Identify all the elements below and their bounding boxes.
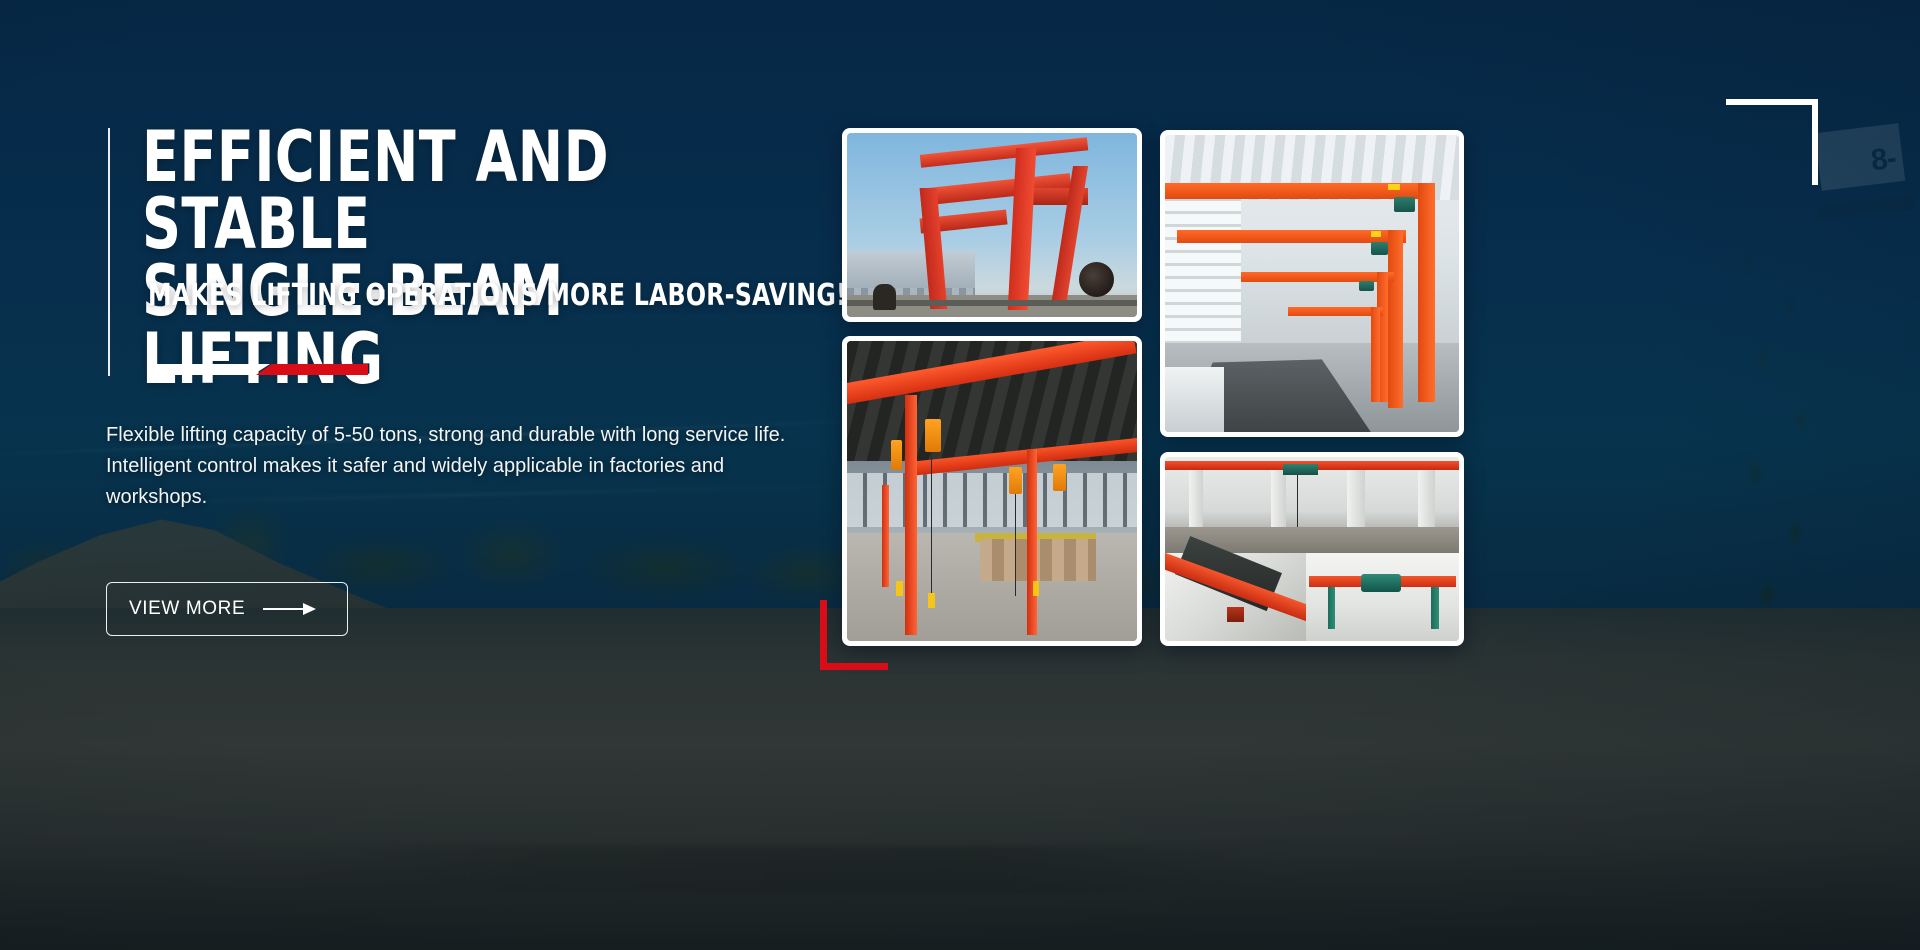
gallery-image-factory-gantry-row[interactable]	[1160, 130, 1464, 437]
hero-banner: 8- EFFICIENT AND STABLE SINGLE-BEAM LIFT…	[0, 0, 1920, 950]
corner-bracket-top-right-icon	[1726, 99, 1818, 185]
slash-divider	[148, 364, 368, 375]
product-image-gallery	[840, 100, 1480, 670]
divider-white-segment	[148, 364, 270, 375]
photo-outdoor-gantry-crane	[847, 133, 1137, 317]
photo-indoor-hoist-composite	[1165, 457, 1459, 641]
headline-line-1: EFFICIENT AND STABLE	[142, 116, 609, 265]
subheadline: MAKES LIFTING OPERATIONS MORE LABOR-SAVI…	[148, 278, 870, 313]
page-title: EFFICIENT AND STABLE SINGLE-BEAM LIFTING	[142, 124, 796, 393]
divider-red-segment	[256, 364, 368, 375]
gallery-image-indoor-hoist-composite[interactable]	[1160, 452, 1464, 646]
corner-bracket-bottom-left-icon	[820, 600, 888, 670]
arrow-right-icon	[263, 603, 321, 615]
view-more-label: VIEW MORE	[129, 598, 245, 620]
gallery-image-outdoor-gantry-crane[interactable]	[842, 128, 1142, 322]
view-more-button[interactable]: VIEW MORE	[106, 582, 348, 636]
body-paragraph: Flexible lifting capacity of 5-50 tons, …	[106, 420, 786, 513]
vertical-accent-rule	[108, 128, 110, 376]
photo-workshop-jib-cranes	[847, 341, 1137, 641]
photo-factory-gantry-row	[1165, 135, 1459, 432]
